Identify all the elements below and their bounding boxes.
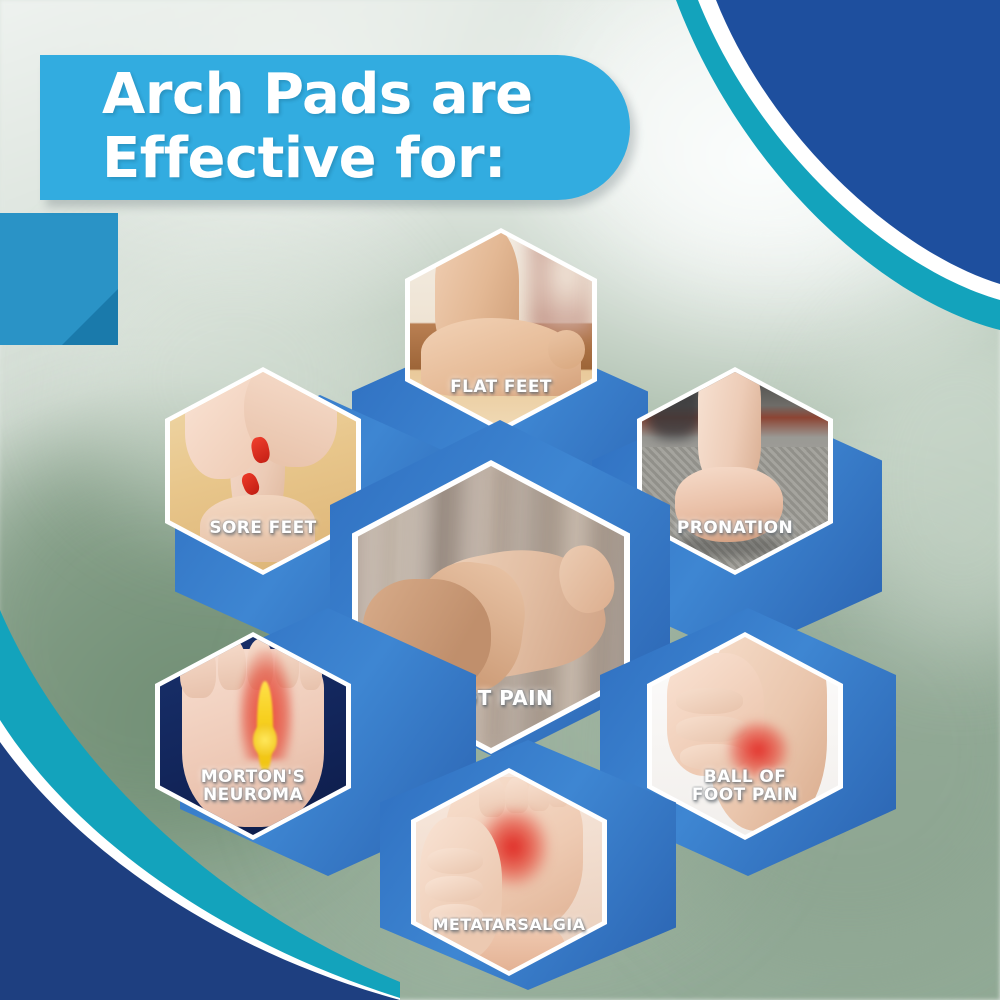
hex-photo-sore-feet bbox=[170, 372, 356, 570]
hex-photo-flat-feet bbox=[410, 233, 592, 427]
infographic-poster: Arch Pads are Effective for: FLAT FEET bbox=[0, 0, 1000, 1000]
hex-photo-metatarsalgia bbox=[416, 773, 602, 971]
hex-photo-ball-of-foot-pain bbox=[652, 637, 838, 835]
hex-photo-mortons-neuroma bbox=[160, 637, 346, 835]
hexagon-grid: FLAT FEET SORE FEET bbox=[0, 0, 1000, 1000]
